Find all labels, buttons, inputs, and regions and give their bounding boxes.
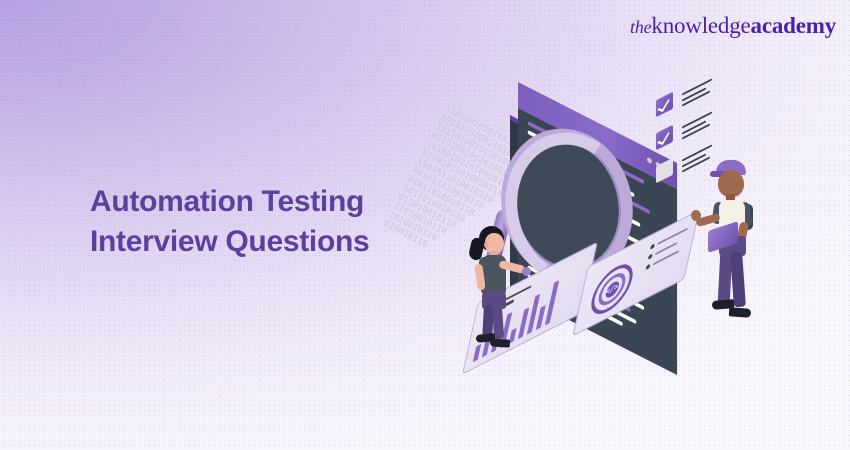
bullet-dot-icon [648, 253, 653, 260]
page-title-line-2: Interview Questions [90, 222, 369, 262]
woman-ear [484, 242, 489, 248]
checklist-item-text [682, 78, 712, 110]
checkbox-checked-icon[interactable] [656, 92, 673, 118]
bullet-dot-icon [646, 264, 651, 271]
page-title: Automation Testing Interview Questions [90, 182, 369, 262]
window-dot-icon [647, 157, 652, 164]
man-head [718, 170, 744, 197]
brand-logo-academy: academy [751, 13, 836, 38]
bullet-dot-icon [650, 243, 655, 250]
checklist-item-text [682, 111, 712, 143]
banner: theknowledgeacademy Automation Testing I… [0, 0, 850, 450]
code-card-list [644, 227, 688, 276]
page-title-line-1: Automation Testing [90, 185, 364, 218]
chart-bar [545, 280, 559, 325]
code-brackets-label: </> [604, 279, 620, 300]
man-hand-left [691, 210, 701, 221]
checkbox-checked-icon[interactable] [656, 125, 673, 151]
woman-analyst-figure [468, 220, 538, 350]
man-shoe-front [729, 307, 752, 318]
hero-illustration: 1101001010110100101101001011010011010110… [440, 60, 840, 400]
woman-hand [522, 267, 531, 276]
brand-logo-the: the [630, 17, 651, 37]
brand-logo-knowledge: knowledge [651, 13, 750, 38]
brand-logo[interactable]: theknowledgeacademy [630, 14, 836, 37]
woman-shoe-front [490, 338, 511, 347]
man-tester-figure [698, 160, 778, 330]
